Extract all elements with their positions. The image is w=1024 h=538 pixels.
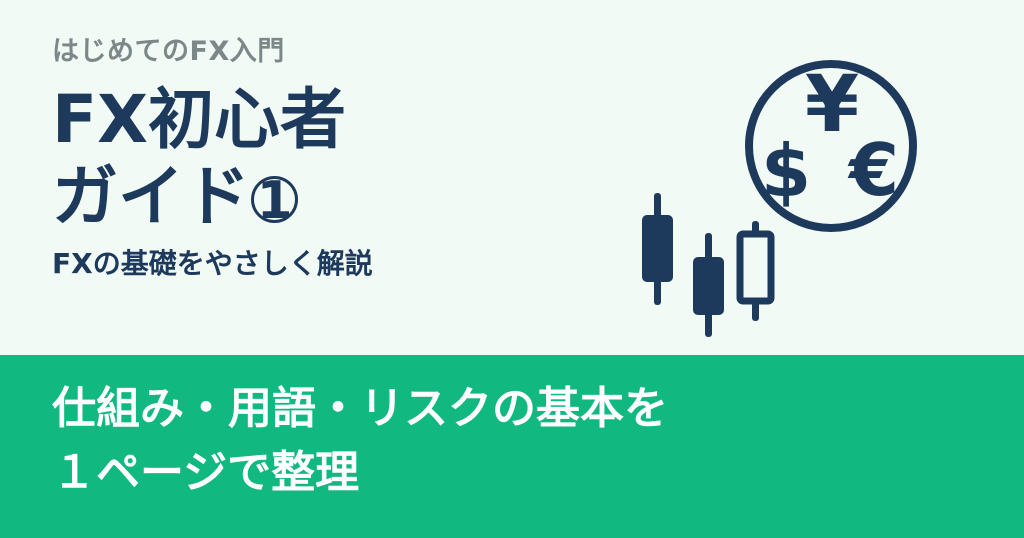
page-title-line-2: ガイド1 [52, 159, 612, 236]
candlestick-chart-icon [642, 193, 771, 337]
page-subtitle: FXの基礎をやさしく解説 [52, 247, 612, 281]
candle-3 [740, 221, 771, 321]
banner-text-block: はじめてのFX入門 FX初心者 ガイド1 FXの基礎をやさしく解説 [52, 36, 612, 281]
banner-upper-section: はじめてのFX入門 FX初心者 ガイド1 FXの基礎をやさしく解説 [0, 0, 1024, 355]
footer-band-line-2: １ページで整理 [52, 441, 972, 505]
eyebrow-label: はじめてのFX入門 [52, 36, 612, 68]
footer-band-text: 仕組み・用語・リスクの基本を １ページで整理 [52, 377, 972, 505]
currency-coin-icon: ¥ $ € [749, 60, 913, 228]
euro-symbol: € [847, 128, 899, 212]
candle-1 [642, 193, 673, 305]
page-title-line-1: FX初心者 [52, 82, 612, 159]
footer-band-line-1: 仕組み・用語・リスクの基本を [52, 377, 972, 441]
page-title: FX初心者 ガイド1 [52, 82, 612, 235]
banner-footer-band: 仕組み・用語・リスクの基本を １ページで整理 [0, 355, 1024, 538]
page-title-line-2-text: ガイド [52, 158, 250, 235]
dollar-symbol: $ [761, 129, 811, 213]
guide-number-badge: 1 [251, 176, 298, 223]
fx-beginner-guide-banner: はじめてのFX入門 FX初心者 ガイド1 FXの基礎をやさしく解説 [0, 0, 1024, 538]
candle-2 [693, 233, 724, 337]
fx-illustration: ¥ $ € [620, 45, 960, 345]
